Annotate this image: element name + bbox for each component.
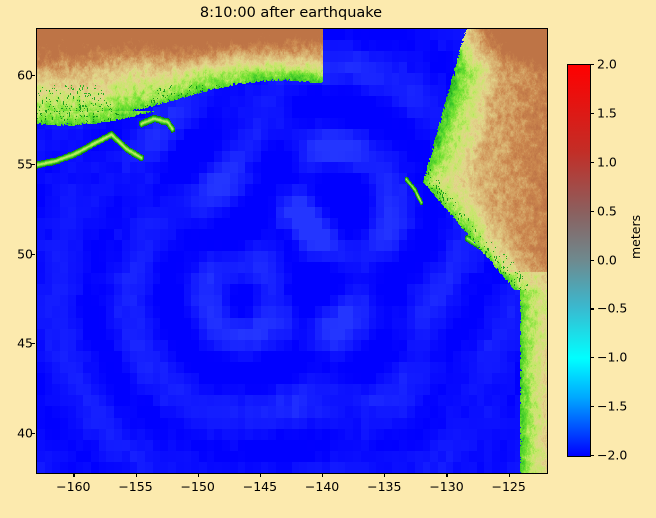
x-tick-label: −140	[305, 479, 339, 494]
colorbar-tick-label: 1.5	[597, 105, 617, 120]
colorbar-label: meters	[628, 215, 643, 259]
colorbar-tick-label: −2.0	[597, 448, 627, 463]
colorbar-tick-label: 1.0	[597, 154, 617, 169]
figure-canvas: 8:10:00 after earthquake −160−155−150−14…	[0, 0, 656, 518]
colorbar-tick-mark	[590, 357, 594, 358]
map-axes[interactable]	[36, 28, 548, 474]
x-tick-label: −130	[429, 479, 463, 494]
colorbar-tick-mark	[590, 113, 594, 114]
y-tick-label: 60	[17, 67, 33, 82]
colorbar-tick-label: 2.0	[597, 57, 617, 72]
colorbar-tick-mark	[590, 211, 594, 212]
x-tick-label: −150	[181, 479, 215, 494]
colorbar[interactable]	[567, 64, 591, 457]
x-tick-mark	[322, 473, 323, 477]
colorbar-tick-label: 0.0	[597, 252, 617, 267]
colorbar-tick-mark	[590, 308, 594, 309]
colorbar-tick-mark	[590, 260, 594, 261]
x-tick-label: −155	[118, 479, 152, 494]
colorbar-gradient	[568, 65, 590, 456]
x-tick-mark	[384, 473, 385, 477]
y-tick-label: 50	[17, 246, 33, 261]
x-tick-label: −135	[367, 479, 401, 494]
y-tick-label: 45	[17, 336, 33, 351]
x-tick-mark	[136, 473, 137, 477]
colorbar-tick-label: −0.5	[597, 301, 627, 316]
x-tick-mark	[260, 473, 261, 477]
x-tick-label: −125	[492, 479, 526, 494]
x-tick-mark	[509, 473, 510, 477]
colorbar-tick-mark	[590, 64, 594, 65]
page-title: 8:10:00 after earthquake	[36, 5, 546, 21]
y-tick-label: 55	[17, 157, 33, 172]
y-tick-label: 40	[17, 425, 33, 440]
colorbar-tick-label: −1.5	[597, 399, 627, 414]
x-tick-mark	[446, 473, 447, 477]
colorbar-tick-label: 0.5	[597, 203, 617, 218]
colorbar-tick-mark	[590, 162, 594, 163]
x-tick-label: −160	[56, 479, 90, 494]
colorbar-tick-mark	[590, 406, 594, 407]
terrain-heatmap	[37, 29, 547, 473]
x-tick-label: −145	[243, 479, 277, 494]
x-tick-mark	[73, 473, 74, 477]
colorbar-tick-mark	[590, 455, 594, 456]
colorbar-tick-label: −1.0	[597, 350, 627, 365]
x-tick-mark	[198, 473, 199, 477]
